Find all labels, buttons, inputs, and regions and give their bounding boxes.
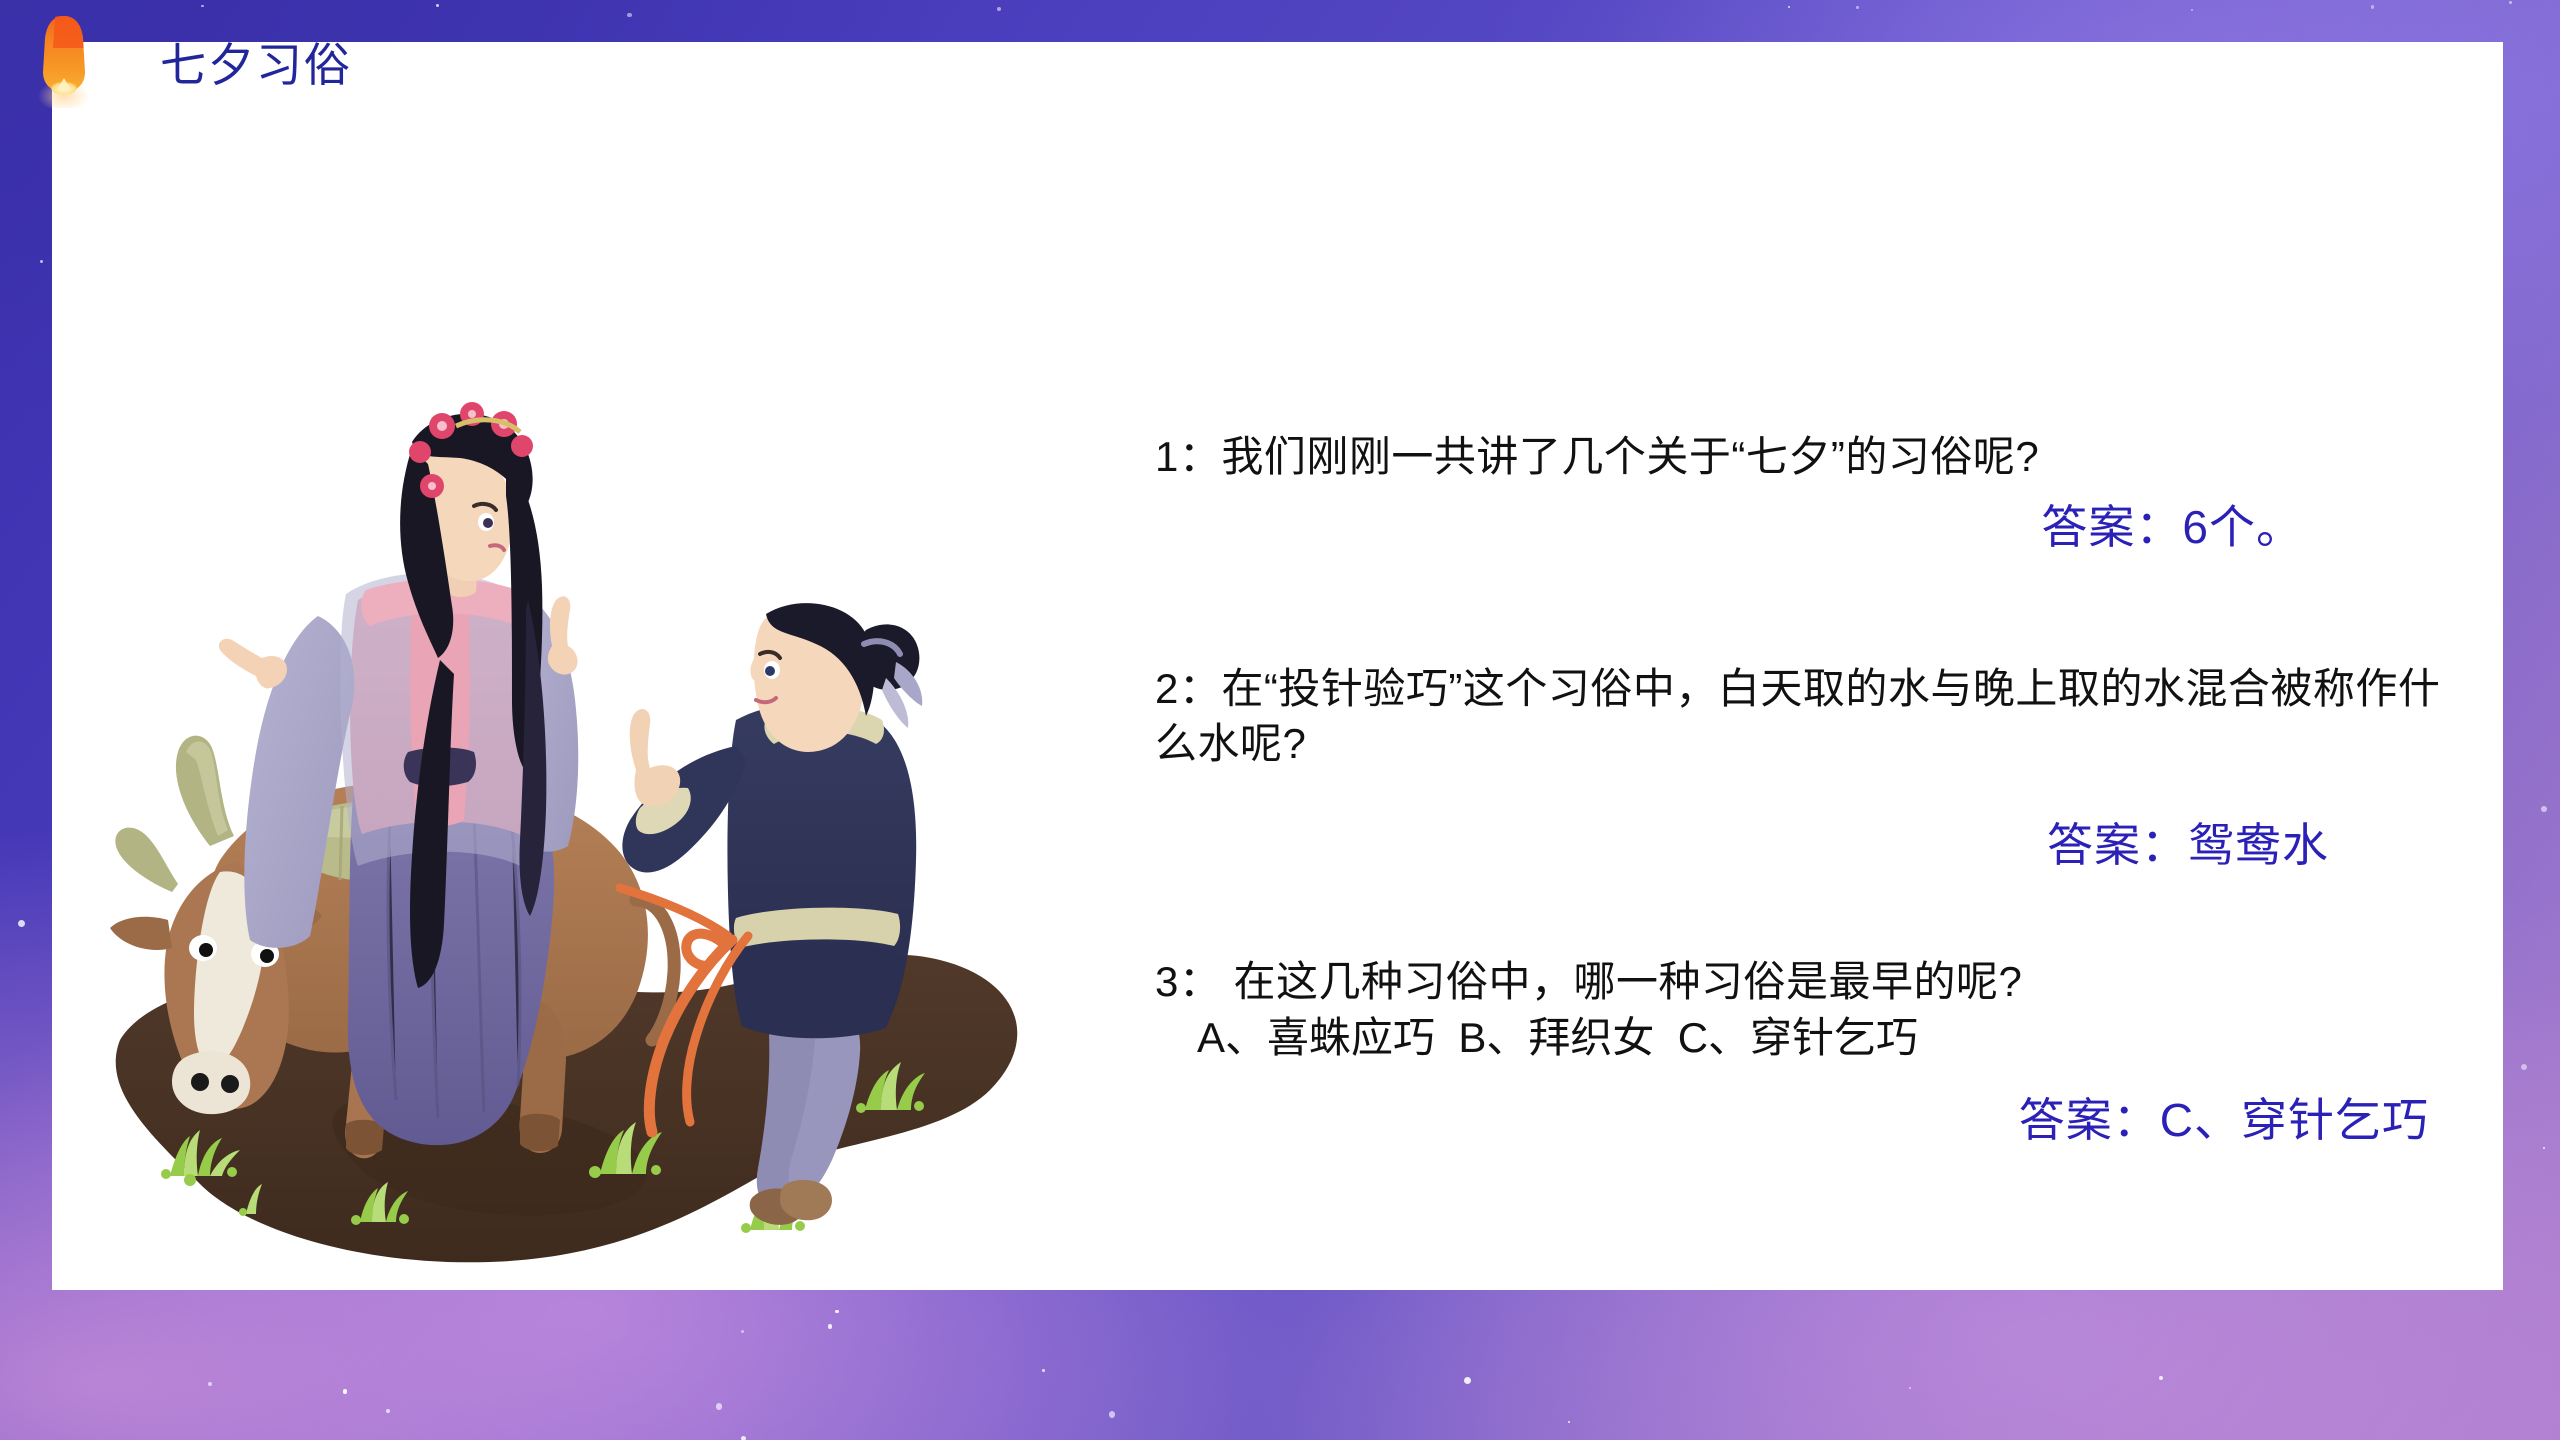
star-dot [835, 1310, 839, 1314]
star-dot [1464, 1377, 1471, 1384]
answer-3-text: 答案：C、穿针乞巧 [1155, 1092, 2475, 1150]
star-dot [1856, 6, 1859, 9]
question-2-text: 2：在“投针验巧”这个习俗中，白天取的水与晚上取的水混合被称作什么水呢? [1155, 662, 2475, 771]
quiz-item-1: 1：我们刚刚一共讲了几个关于“七夕”的习俗呢? 答案：6个。 [1155, 430, 2475, 556]
question-3-options: A、喜蛛应巧 B、拜织女 C、穿针乞巧 [1155, 1010, 2475, 1066]
answer-1-text: 答案：6个。 [1155, 499, 2475, 557]
page-title: 七夕习俗 [160, 42, 352, 88]
quiz-item-2: 2：在“投针验巧”这个习俗中，白天取的水与晚上取的水混合被称作什么水呢? 答案：… [1155, 662, 2475, 875]
star-dot [741, 1436, 746, 1440]
star-dot [18, 920, 25, 927]
star-dot [828, 1324, 832, 1328]
star-dot [2509, 1, 2512, 4]
star-dot [741, 1330, 744, 1333]
sky-lantern-icon [35, 12, 93, 108]
star-dot [436, 4, 439, 7]
question-3-text: 3： 在这几种习俗中，哪一种习俗是最早的呢? [1155, 955, 2475, 1010]
question-1-text: 1：我们刚刚一共讲了几个关于“七夕”的习俗呢? [1155, 430, 2475, 485]
star-dot [627, 13, 632, 18]
star-dot [2191, 9, 2193, 11]
star-dot [1109, 1411, 1115, 1417]
star-dot [2159, 1376, 2163, 1380]
cowherd-weaver-illustration [60, 300, 1150, 1310]
slide-root: 七夕习俗 [0, 0, 2560, 1440]
quiz-item-3: 3： 在这几种习俗中，哪一种习俗是最早的呢? A、喜蛛应巧 B、拜织女 C、穿针… [1155, 955, 2475, 1149]
answer-2-text: 答案：鸳鸯水 [1155, 817, 2475, 875]
